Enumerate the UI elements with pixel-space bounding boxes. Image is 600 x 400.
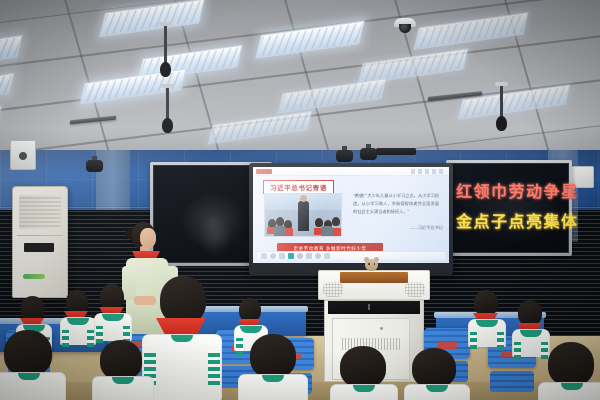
student-uniform [404,384,470,400]
interactive-smart-display[interactable]: 习近平总书记寄语 " [249,163,453,275]
media-icon[interactable] [306,253,312,259]
student-foreground [92,340,154,400]
lectern-speaker-grille-right [405,282,425,297]
blackboard-panel-right: 红领巾劳动争星 金点子点亮集体 [449,163,569,253]
student-uniform [538,382,600,400]
student-head [4,330,52,376]
student-uniform [92,376,154,400]
lectern-door-knob[interactable] [380,327,383,330]
slide-title: 习近平总书记寄语 [263,180,334,194]
grid-icon[interactable] [261,253,267,259]
teacher-face [140,228,156,248]
slide-photo [264,193,342,237]
student-foreground [538,342,600,400]
hanging-microphone [500,86,503,120]
ptz-camera [360,144,377,160]
topbar-accent-bar [256,169,272,174]
display-screen-surface[interactable]: 习近平总书记寄语 " [253,167,449,263]
student-foreground [404,348,470,400]
classroom-photo: 红领巾劳动争星 金点子点亮集体 习近平总书记寄语 [0,0,600,400]
slide-topbar [253,167,449,176]
student-head [412,348,456,388]
blackboard-frame-right: 红领巾劳动争星 金点子点亮集体 [446,160,572,256]
ptz-camera [86,156,103,172]
lectern-recess [328,301,420,314]
chalk-headline-line1: 红领巾劳动争星 [456,178,579,202]
teddy-bear-ornament [364,257,379,272]
student-uniform [142,334,222,400]
hanging-microphone [164,26,167,66]
drop-ceiling [0,0,600,172]
slide-quote-attribution: ——习近平总书记 [409,225,443,231]
student-foreground [142,276,222,400]
chalk-headline-line2: 金点子点亮集体 [456,208,579,232]
student-uniform [0,372,66,400]
student-foreground [330,346,398,400]
lectern-wood-trim [340,272,408,283]
student-foreground [238,334,308,400]
student-uniform [330,384,398,400]
topbar-menu-dots [411,169,445,174]
student-head [548,342,594,386]
recording-device [376,148,416,155]
screen-taskbar[interactable] [257,251,445,260]
floor-air-conditioner [12,186,68,298]
document-icon[interactable] [279,253,285,259]
student-head [100,340,142,380]
app-icon[interactable] [288,253,294,259]
lectern-speaker-grille-left [323,282,343,297]
browser-icon[interactable] [270,253,276,259]
ptz-camera [336,146,353,162]
student-head [250,334,296,378]
network-icon[interactable] [324,253,330,259]
wall-speaker [10,140,36,170]
student-uniform [238,374,308,400]
student [468,290,506,344]
student-head [340,346,386,388]
settings-icon[interactable] [297,253,303,259]
student-head [160,276,206,324]
student-foreground [0,330,66,400]
folder-icon[interactable] [315,253,321,259]
slide-quote-text: "希望广大少年儿童从小学习立志，从小学习创造，从小学习做人，争做德智体美劳全面发… [353,192,439,215]
student [94,284,132,338]
dome-security-camera [394,18,416,27]
hanging-microphone [166,88,169,122]
